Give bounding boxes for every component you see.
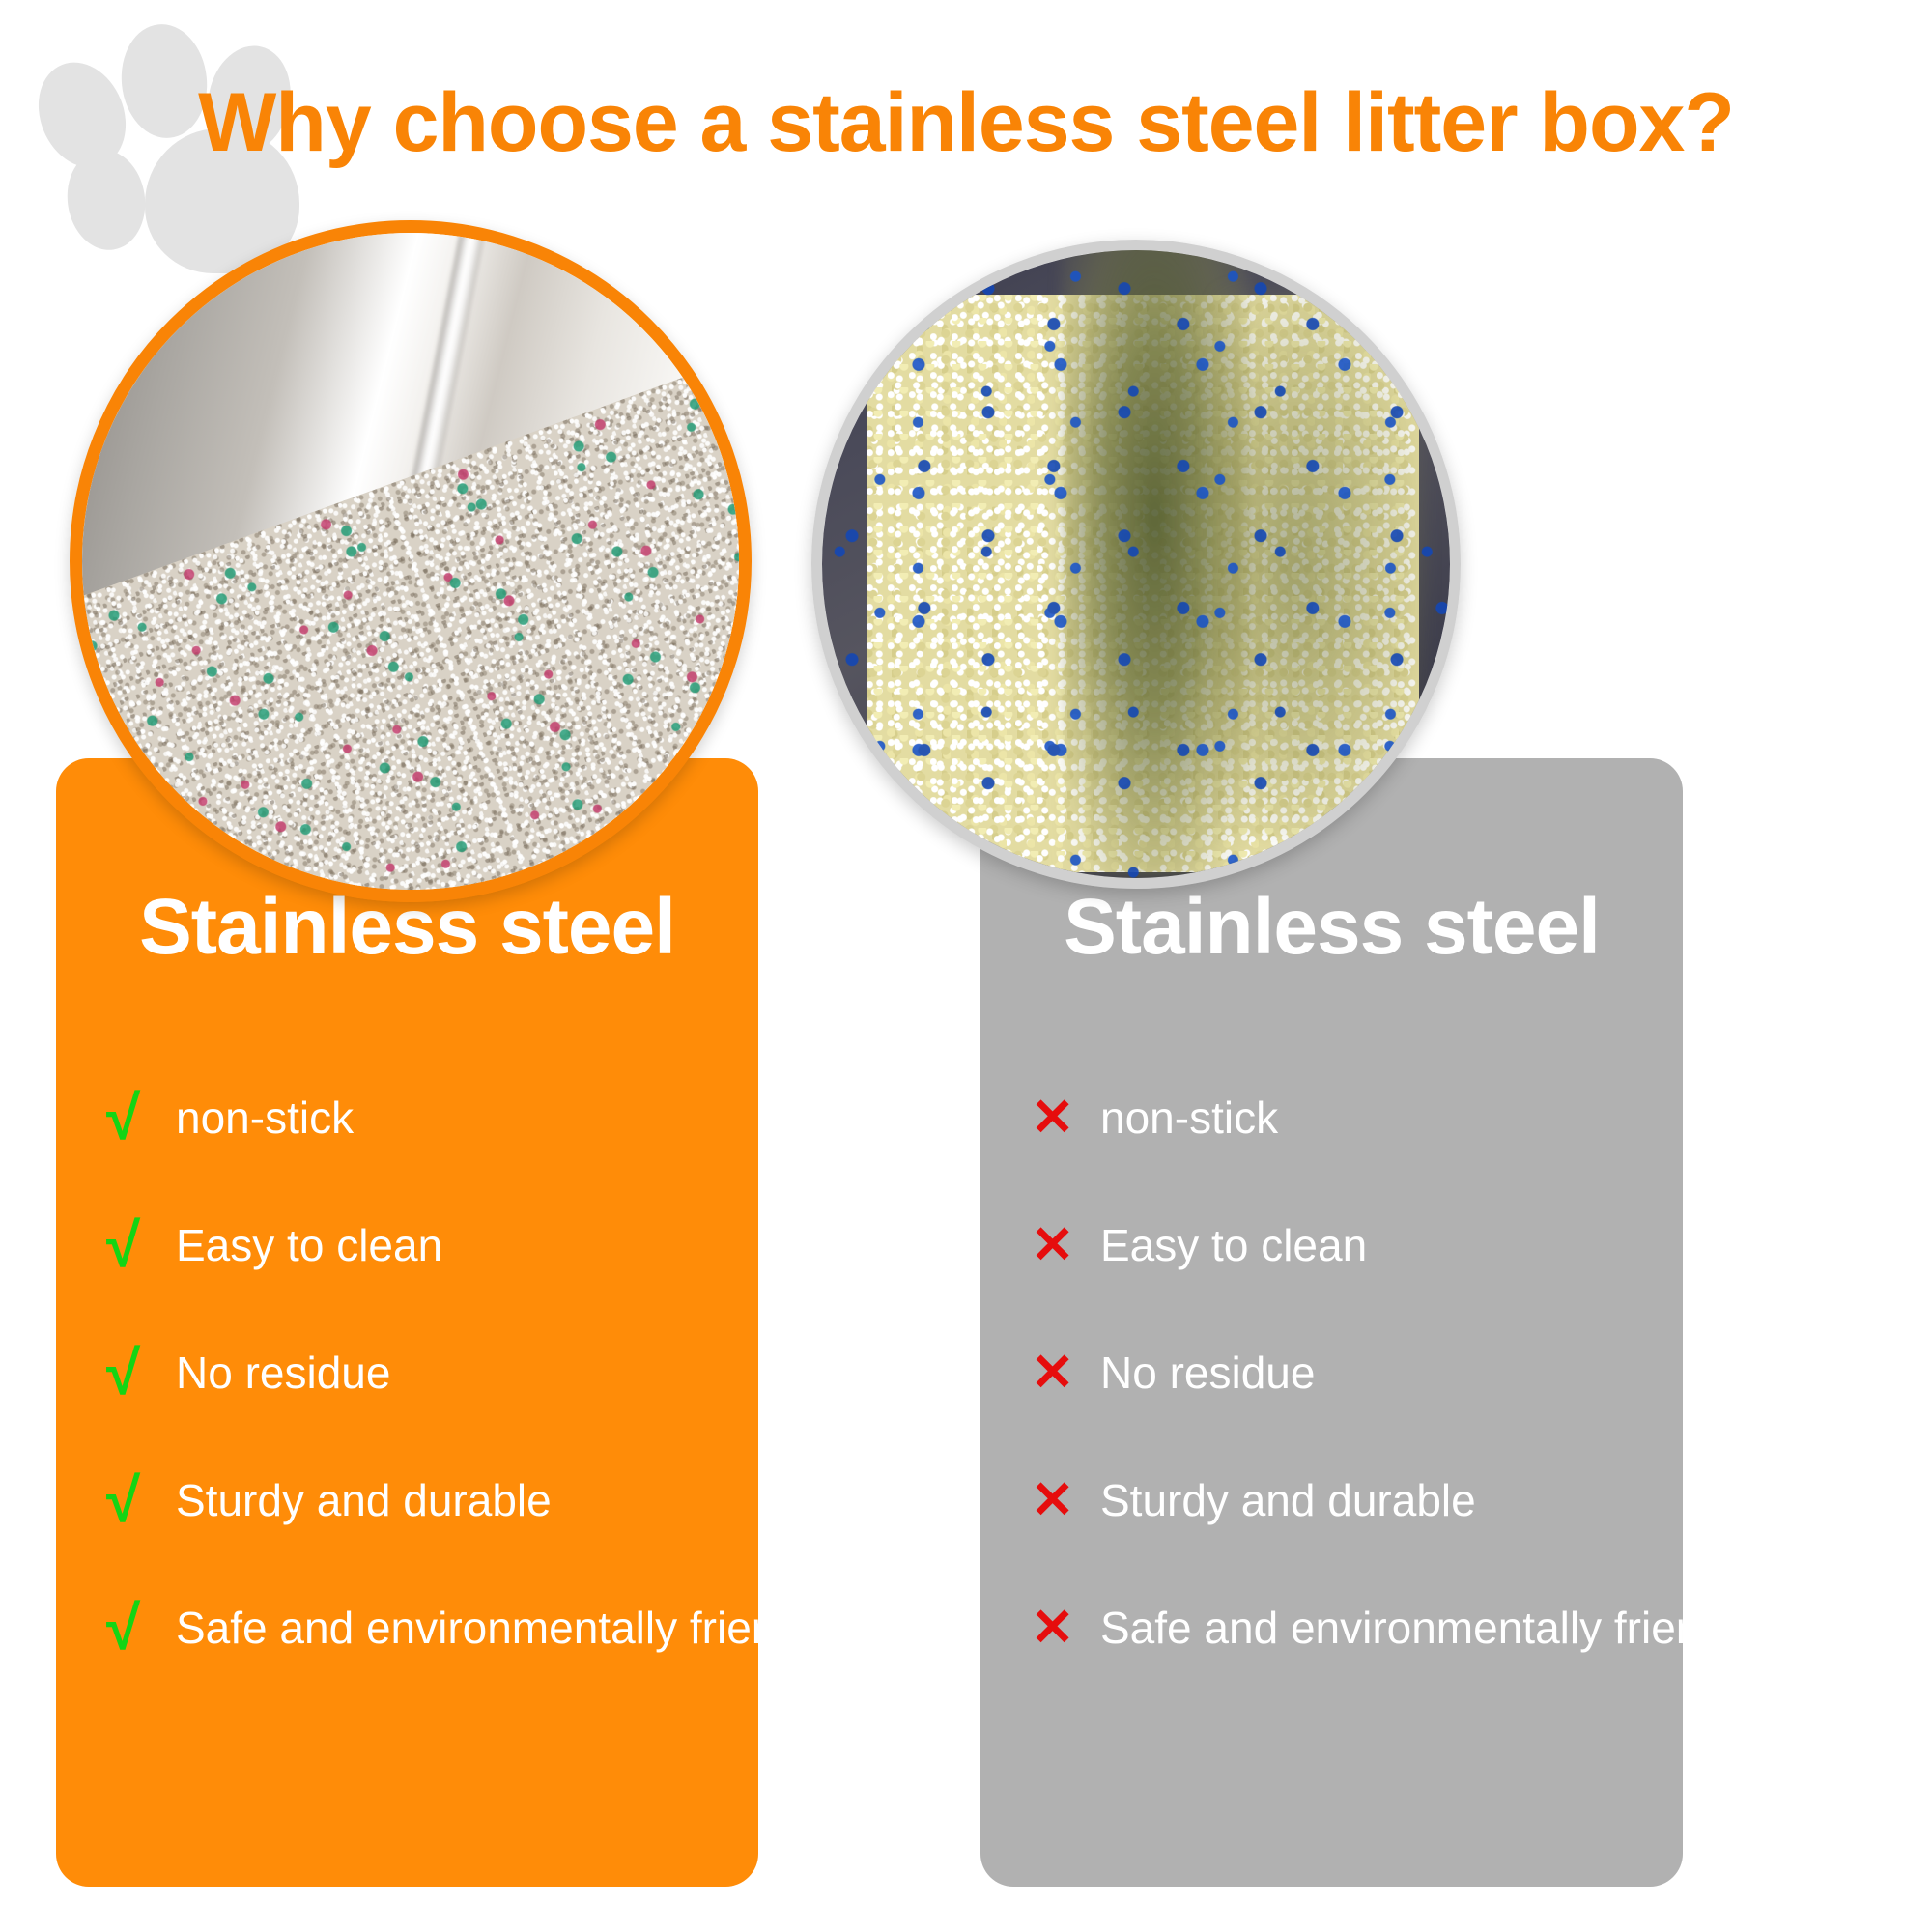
feature-label: non-stick [176,1092,354,1144]
photo-content [82,233,739,890]
stainless-steel-litter-box-photo [70,220,752,902]
feature-label: Easy to clean [1100,1219,1367,1271]
check-icon: √ [99,1214,176,1276]
feature-row: √ non-stick [99,1054,743,1181]
feature-list-left: √ non-stick √ Easy to clean √ No residue… [99,1054,743,1691]
feature-row: ✕ No residue [1023,1309,1667,1436]
cross-icon: ✕ [1023,1219,1100,1271]
feature-label: Easy to clean [176,1219,442,1271]
check-icon: √ [99,1087,176,1149]
cross-icon: ✕ [1023,1474,1100,1526]
check-icon: √ [99,1597,176,1659]
feature-label: Sturdy and durable [1100,1474,1476,1526]
feature-row: √ Sturdy and durable [99,1436,743,1564]
check-icon: √ [99,1469,176,1531]
comparison-card-stainless-steel: Stainless steel √ non-stick √ Easy to cl… [56,758,758,1887]
feature-label: Safe and environmentally friendly [176,1602,833,1654]
feature-label: Sturdy and durable [176,1474,552,1526]
card-heading-right: Stainless steel [980,882,1683,973]
feature-row: ✕ Safe and environmentally friendly [1023,1564,1667,1691]
litter-blue-specks [822,250,1450,878]
feature-label: No residue [1100,1347,1315,1399]
feature-row: ✕ non-stick [1023,1054,1667,1181]
cross-icon: ✕ [1023,1347,1100,1399]
feature-label: Safe and environmentally friendly [1100,1602,1757,1654]
feature-row: √ Easy to clean [99,1181,743,1309]
feature-row: √ No residue [99,1309,743,1436]
feature-label: non-stick [1100,1092,1278,1144]
feature-row: ✕ Easy to clean [1023,1181,1667,1309]
feature-row: √ Safe and environmentally friendly [99,1564,743,1691]
comparison-card-alternative: Stainless steel ✕ non-stick ✕ Easy to cl… [980,758,1683,1887]
page-title: Why choose a stainless steel litter box? [0,75,1932,171]
feature-row: ✕ Sturdy and durable [1023,1436,1667,1564]
check-icon: √ [99,1342,176,1404]
feature-label: No residue [176,1347,390,1399]
photo-content [822,250,1450,878]
cross-icon: ✕ [1023,1602,1100,1654]
feature-list-right: ✕ non-stick ✕ Easy to clean ✕ No residue… [1023,1054,1667,1691]
cross-icon: ✕ [1023,1092,1100,1144]
plastic-litter-box-photo [811,240,1461,889]
